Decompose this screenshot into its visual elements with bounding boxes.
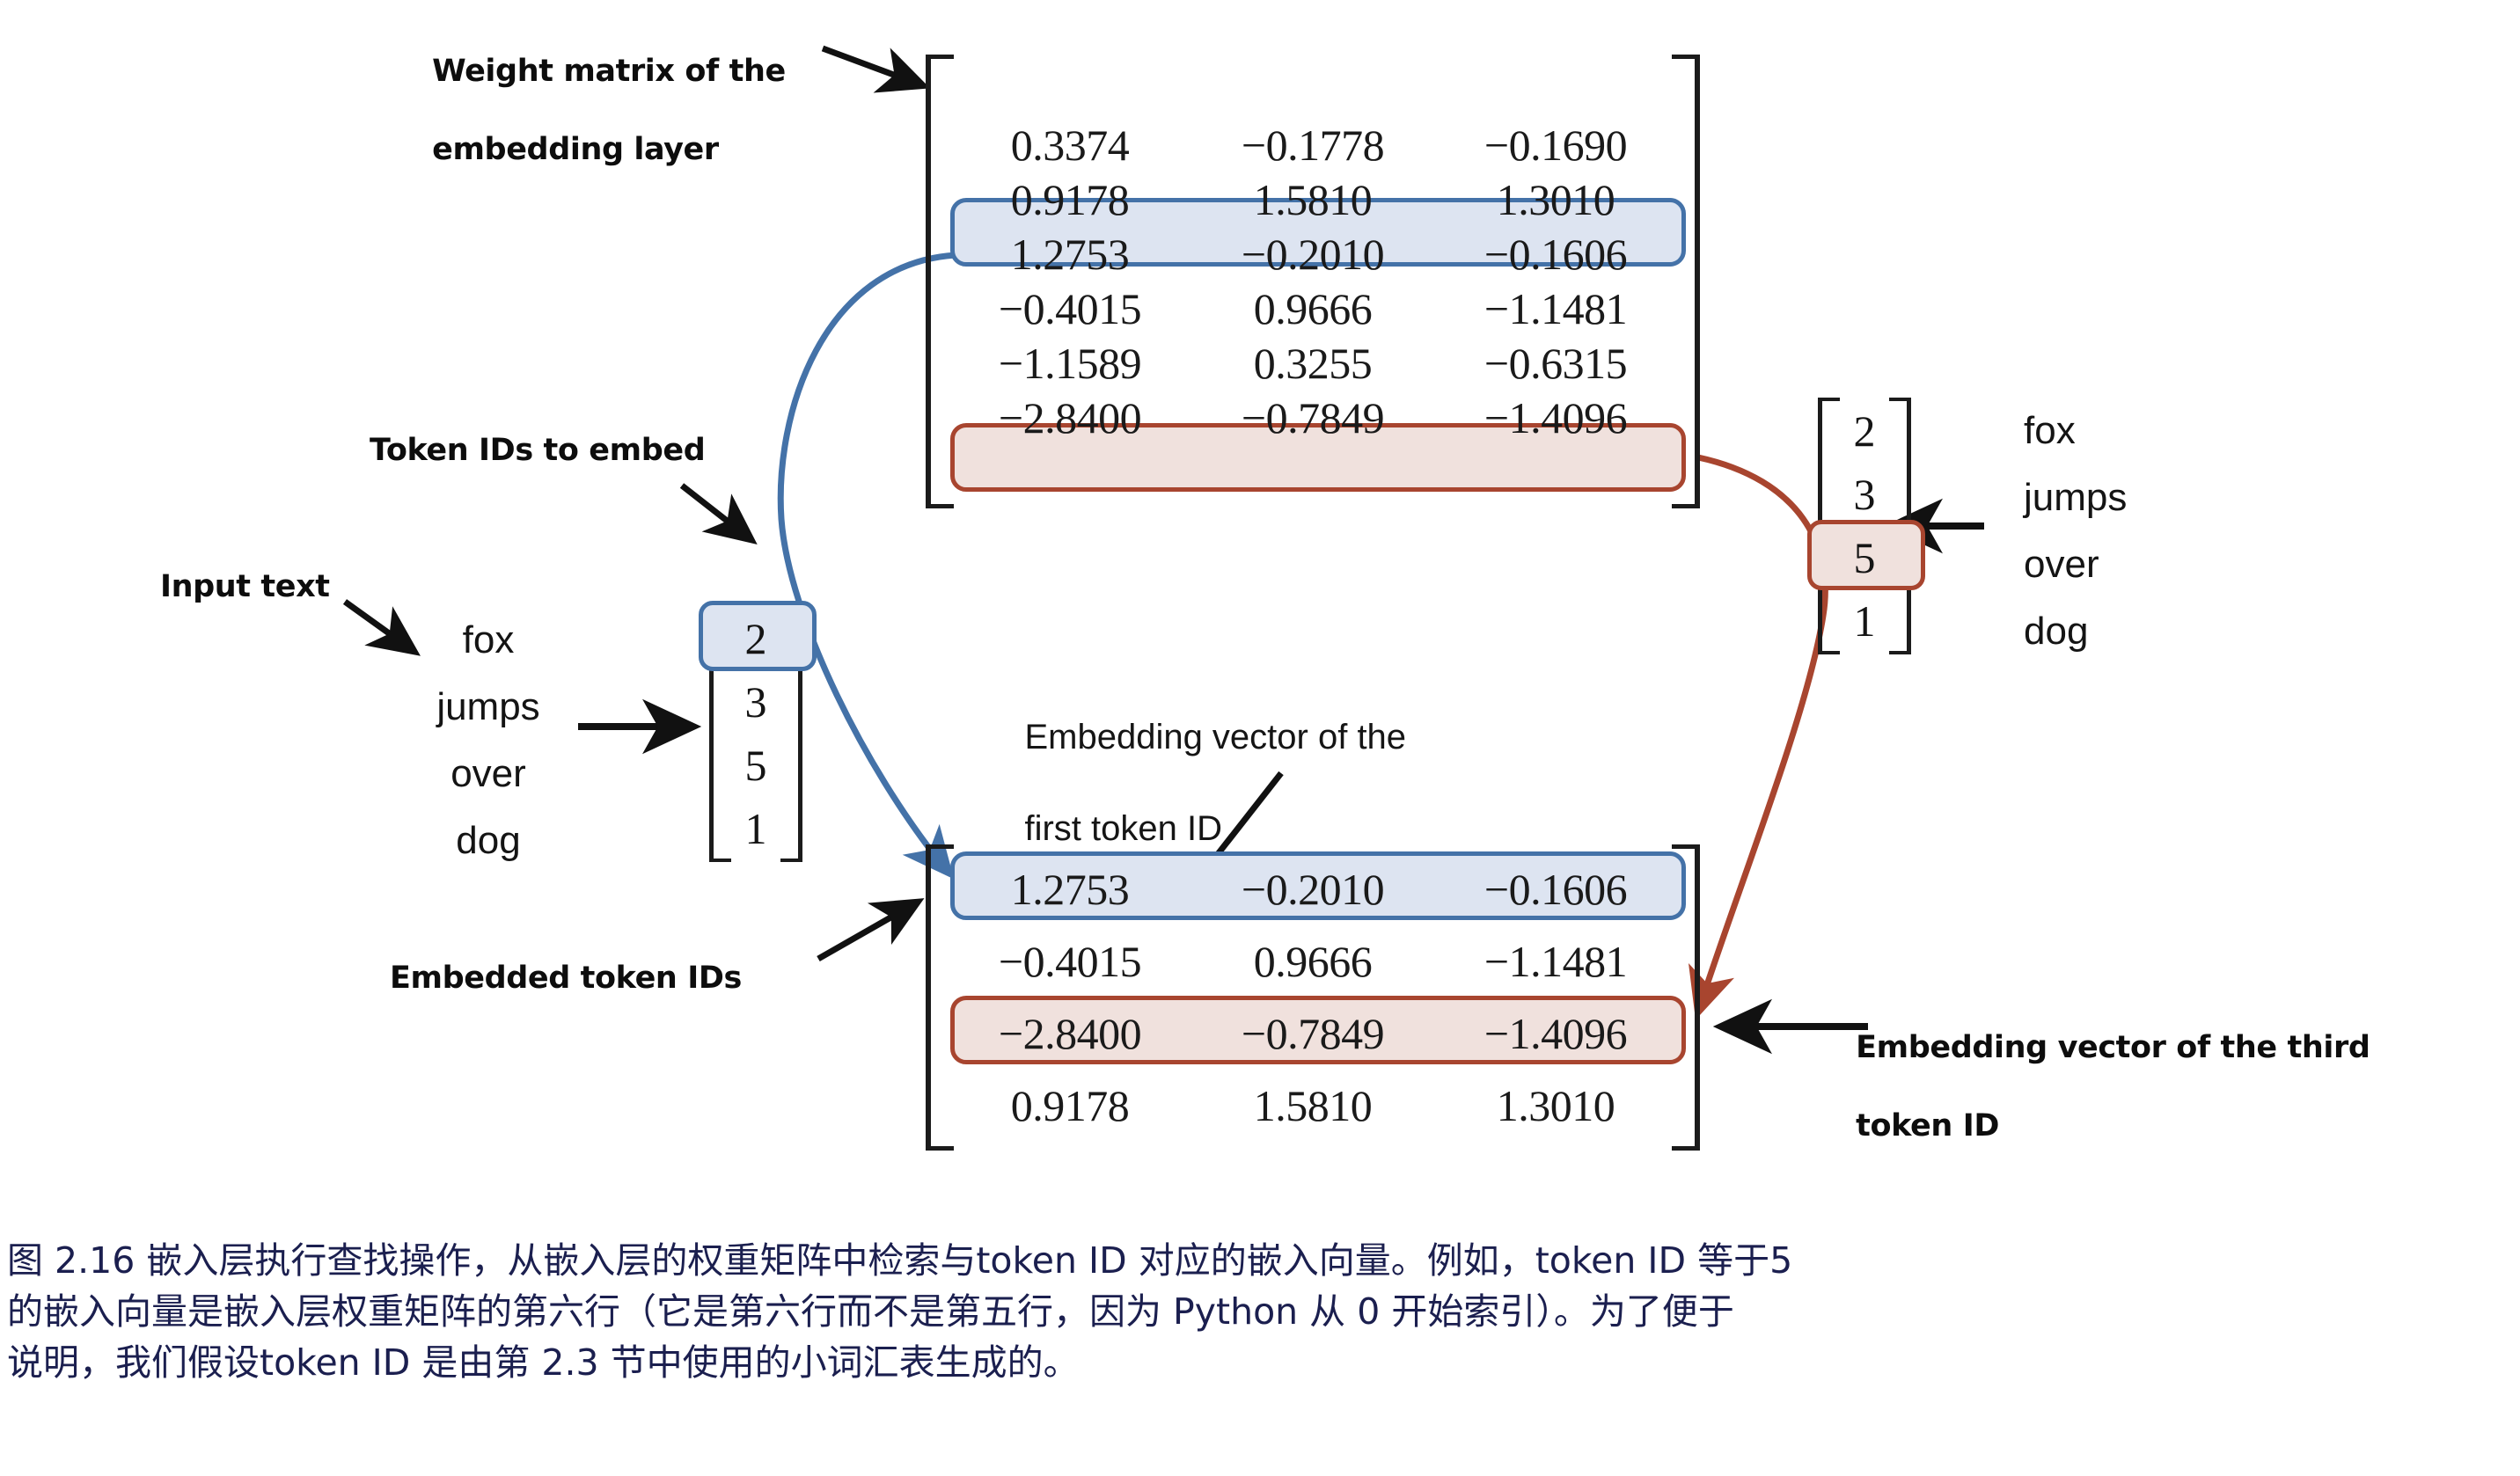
token-id-cell: 2 [1818,399,1911,463]
matrix-row: −2.8400 −0.7849 −1.4096 [949,391,1677,445]
matrix-cell: −0.1690 [1434,120,1677,171]
token-ids-vector-left: 2 3 5 1 [709,605,802,862]
matrix-row: −2.8400 −0.7849 −1.4096 [949,997,1677,1070]
token-id-cell: 2 [709,607,802,670]
matrix-cell: 1.3010 [1434,174,1677,225]
token-id-cell: 3 [709,670,802,734]
matrix-cell: −2.8400 [949,1008,1191,1059]
weight-matrix: 0.3374 −0.1778 −0.1690 0.9178 1.5810 1.3… [926,55,1700,508]
label-embedded-token-ids: Embedded token IDs [390,959,742,998]
matrix-row: −1.1589 0.3255 −0.6315 [949,336,1677,391]
matrix-row: 0.3374 −0.1778 −0.1690 [949,118,1677,172]
right-word: over [2024,531,2226,598]
arrow-embedded-token-ids [818,902,917,959]
token-id-cell: 1 [709,797,802,860]
label-embedding-vector-third-line2: token ID [1856,1108,1999,1144]
label-token-ids-to-embed: Token IDs to embed [370,431,705,471]
matrix-cell: 0.9666 [1191,936,1434,987]
token-id-cell: 5 [1818,526,1911,589]
matrix-cell: 1.2753 [949,229,1191,280]
right-word: fox [2024,398,2226,464]
matrix-row: 1.2753 −0.2010 −0.1606 [949,227,1677,281]
matrix-cell: 0.9666 [1191,283,1434,334]
matrix-cell: −1.1481 [1434,936,1677,987]
matrix-cell: −0.7849 [1191,1008,1434,1059]
embedded-matrix-rows: 1.2753 −0.2010 −0.1606 −0.4015 0.9666 −1… [949,844,1677,1151]
matrix-cell: −0.7849 [1191,392,1434,443]
matrix-cell: −0.1606 [1434,229,1677,280]
matrix-row: 0.9178 1.5810 1.3010 [949,172,1677,227]
input-word: over [396,741,581,807]
matrix-cell: −1.1481 [1434,283,1677,334]
matrix-cell: −0.1606 [1434,864,1677,915]
weight-matrix-rows: 0.3374 −0.1778 −0.1690 0.9178 1.5810 1.3… [949,55,1677,508]
matrix-cell: −0.2010 [1191,229,1434,280]
matrix-cell: −0.4015 [949,936,1191,987]
matrix-cell: 0.9178 [949,1080,1191,1131]
matrix-cell: 1.5810 [1191,174,1434,225]
right-words: fox jumps over dog [2024,398,2226,665]
right-word: jumps [2024,464,2226,531]
matrix-row: −0.4015 0.9666 −1.1481 [949,281,1677,336]
matrix-cell: −2.8400 [949,392,1191,443]
input-word: dog [396,807,581,874]
matrix-cell: −1.4096 [1434,1008,1677,1059]
token-id-cells: 2 3 5 1 [709,605,802,862]
matrix-cell: −1.4096 [1434,392,1677,443]
red-lookup-curve [1698,457,1825,1012]
embedded-token-ids-matrix: 1.2753 −0.2010 −0.1606 −0.4015 0.9666 −1… [926,844,1700,1151]
matrix-cell: −0.4015 [949,283,1191,334]
label-embedding-vector-first-line1: Embedding vector of the [1024,718,1406,756]
matrix-cell: 0.3374 [949,120,1191,171]
token-id-cells: 2 3 5 1 [1818,398,1911,654]
matrix-cell: −0.6315 [1434,338,1677,389]
caption-line: 说明，我们假设token ID 是由第 2.3 节中使用的小词汇表生成的。 [7,1337,2515,1388]
matrix-cell: 1.2753 [949,864,1191,915]
label-weight-matrix-line2: embedding layer [432,132,719,167]
matrix-cell: 1.3010 [1434,1080,1677,1131]
right-word: dog [2024,598,2226,665]
input-word: fox [396,607,581,674]
matrix-row: 0.9178 1.5810 1.3010 [949,1070,1677,1142]
token-id-cell: 3 [1818,463,1911,526]
label-embedding-vector-third-line1: Embedding vector of the third [1856,1030,2370,1065]
matrix-row: 1.2753 −0.2010 −0.1606 [949,853,1677,925]
caption-line: 图 2.16 嵌入层执行查找操作，从嵌入层的权重矩阵中检索与token ID 对… [7,1235,2515,1286]
label-input-text: Input text [160,567,330,607]
caption-line: 的嵌入向量是嵌入层权重矩阵的第六行（它是第六行而不是第五行，因为 Python … [7,1286,2515,1337]
label-embedding-vector-third: Embedding vector of the third token ID [1814,989,2370,1186]
arrow-weight-matrix [823,48,922,85]
label-weight-matrix: Weight matrix of the embedding layer [391,12,786,209]
matrix-cell: −1.1589 [949,338,1191,389]
matrix-cell: 1.5810 [1191,1080,1434,1131]
figure-caption: 图 2.16 嵌入层执行查找操作，从嵌入层的权重矩阵中检索与token ID 对… [7,1235,2515,1389]
matrix-cell: −0.1778 [1191,120,1434,171]
matrix-cell: 0.9178 [949,174,1191,225]
token-id-cell: 5 [709,734,802,797]
figure-canvas: Weight matrix of the embedding layer Tok… [0,0,2520,1476]
matrix-cell: −0.2010 [1191,864,1434,915]
label-embedding-vector-first-line2: first token ID [1024,809,1222,848]
input-text-words: fox jumps over dog [396,607,581,874]
matrix-row: −0.4015 0.9666 −1.1481 [949,925,1677,997]
matrix-cell: 0.3255 [1191,338,1434,389]
arrow-token-ids-to-embed [682,486,751,539]
token-ids-vector-right: 2 3 5 1 [1818,398,1911,654]
token-id-cell: 1 [1818,589,1911,653]
label-weight-matrix-line1: Weight matrix of the [432,54,786,89]
input-word: jumps [396,674,581,741]
